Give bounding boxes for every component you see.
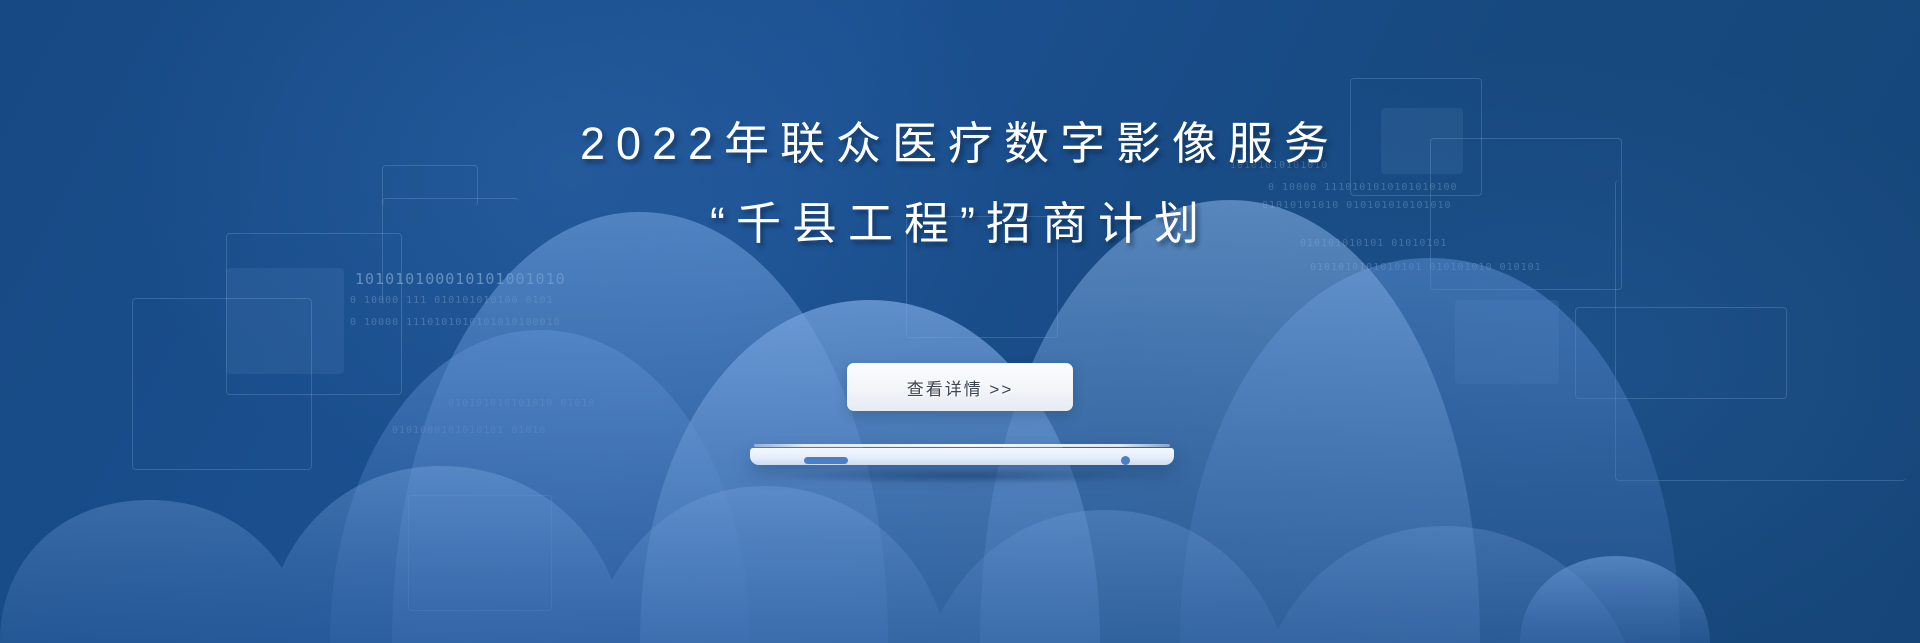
cloud-puff-right [1520,556,1710,643]
cloud-mid-left [392,212,888,643]
binary-text-right-5: 0101010101010101 010101010 010101 [1310,262,1542,273]
decor-rect-center-1 [906,216,1058,338]
binary-text-left-4: 010101010101010 01010 [448,398,595,409]
decor-rect-right-2 [1430,138,1622,290]
binary-text-left-1: 101010100010101001010 [355,270,566,288]
decor-rect-right-1 [1350,78,1482,196]
cloud-front-band [0,466,1625,643]
decor-fill-right-2 [1455,300,1559,384]
view-details-label: 查看详情 >> [907,375,1014,400]
cloud-back-left [330,330,750,643]
cloud-mid-right [980,200,1480,643]
glow-right [1120,40,1920,643]
tablet-edge-graphic [750,444,1174,470]
binary-text-right-3: 01010101010 010101010101010 [1262,200,1452,211]
cloud-back-right [1180,258,1680,643]
device-screen-edge [754,444,1170,447]
binary-text-right-2: 0 10000 1110101010101010100 [1268,182,1458,193]
binary-text-left-3: 0 10000 1110101010101010100010 [350,317,561,328]
binary-text-left-2: 0 10000 111 010101010100 0101 [350,295,554,306]
headline-line-2: “千县工程”招商计划 [0,184,1920,264]
device-shadow [778,468,1146,484]
binary-text-right-1: 10101010101010 [1230,160,1328,171]
decor-fill-left-1 [226,268,344,374]
binary-text-right-4: 010101010101 01010101 [1300,238,1447,249]
decor-rect-left-1 [132,298,312,470]
page-title: 2022年联众医疗数字影像服务 “千县工程”招商计划 [0,104,1920,264]
decor-rect-left-5 [382,165,478,206]
view-details-button[interactable]: 查看详情 >> [847,363,1073,411]
decor-rect-left-4 [382,198,519,305]
decor-rect-right-4 [1575,307,1787,399]
device-body [750,448,1174,465]
decor-rect-left-3 [408,495,552,611]
decor-rect-left-2 [226,233,402,395]
glow-left [120,0,1020,520]
binary-text-left-5: 0101000101010101 01010 [392,425,546,436]
promo-banner: 101010100010101001010 0 10000 111 010101… [0,0,1920,643]
headline-line-1: 2022年联众医疗数字影像服务 [0,104,1920,184]
device-speaker-icon [804,457,848,464]
device-camera-icon [1121,456,1130,465]
cloud-illustration [0,0,1920,643]
decor-rect-right-3 [1615,180,1906,481]
decor-fill-right-1 [1381,108,1463,174]
